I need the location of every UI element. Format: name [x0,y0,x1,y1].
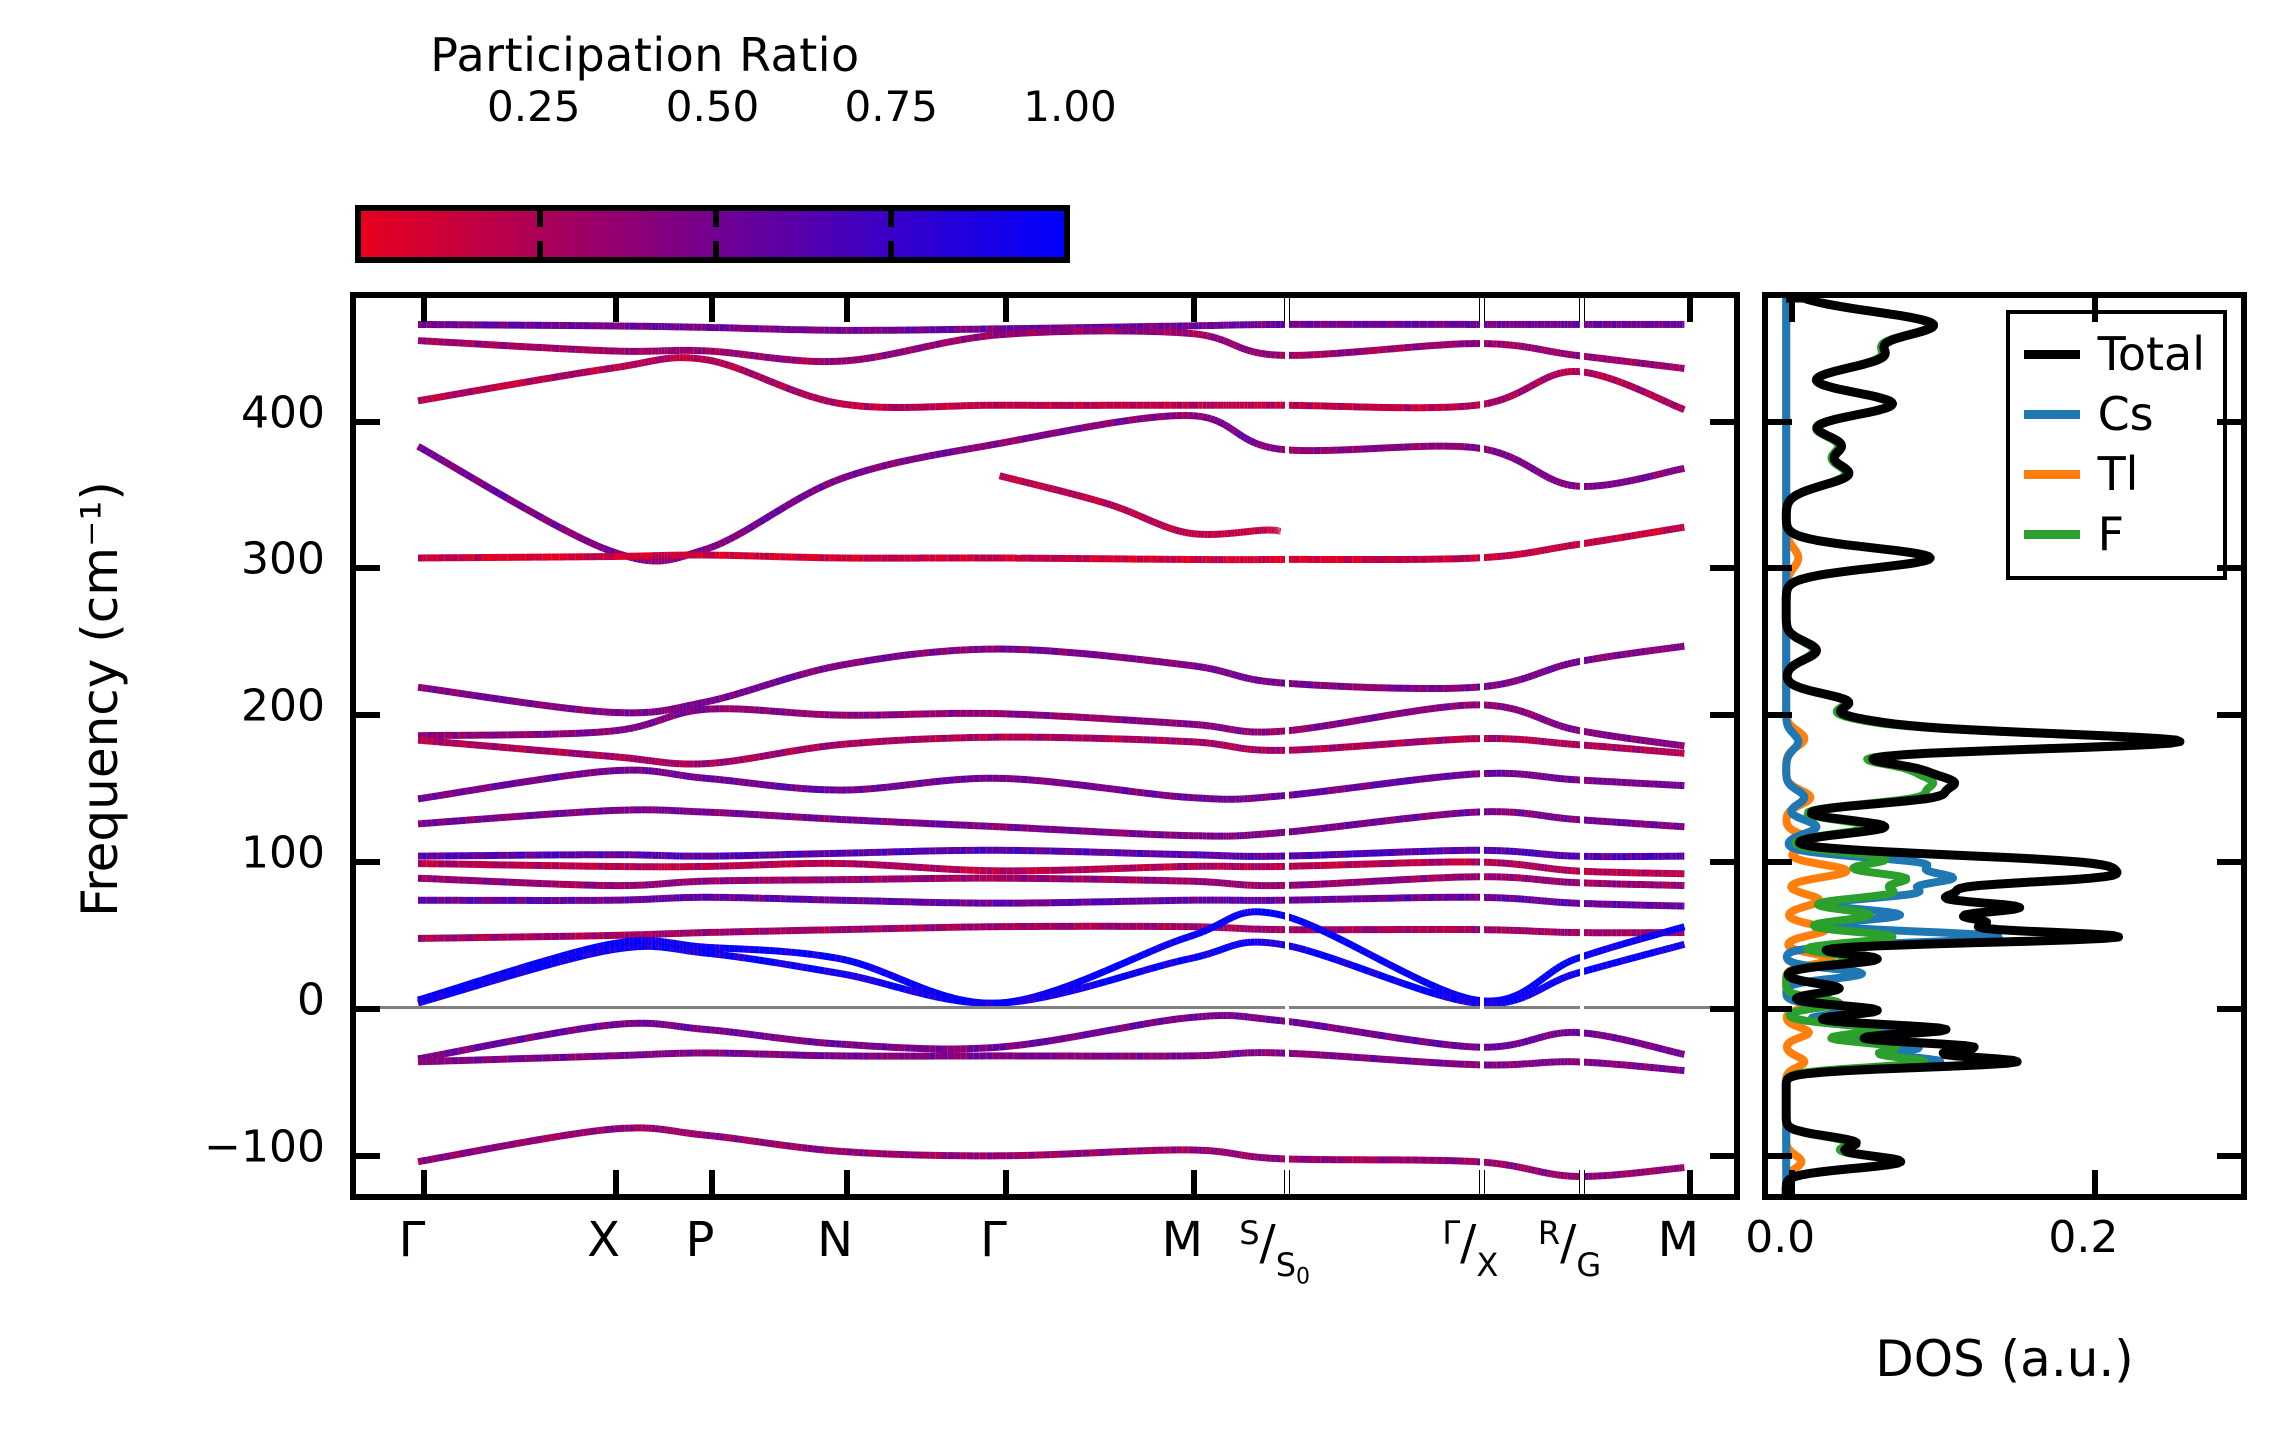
legend-swatch-total [2024,350,2080,359]
kpath-break-0 [1285,298,1289,1194]
colorbar-tick-mark [888,241,894,257]
legend-label-total: Total [2098,331,2205,377]
dos-y-tick-mark [2217,419,2241,425]
x-tick-mark [613,298,619,322]
dos-y-tick-mark [1768,1153,1792,1159]
legend-swatch-f [2024,530,2080,539]
colorbar-tick-label-2: 0.75 [844,82,938,131]
x-tick-label-5: M [1162,1212,1203,1268]
x-tick-mark [844,1170,850,1194]
y-tick-mark [1710,712,1734,718]
x-tick-label-1: X [587,1212,620,1268]
phonon-figure: Participation Ratio 0.250.500.751.00 Fre… [0,0,2271,1455]
y-tick-mark [1710,1006,1734,1012]
x-tick-mark [1191,298,1197,322]
x-tick-mark [613,1170,619,1194]
kpath-break-1 [1480,298,1484,1194]
x-tick-mark [709,298,715,322]
colorbar [355,205,1070,263]
x-tick-label-2: P [686,1212,715,1268]
y-tick-mark [356,1153,380,1159]
zero-frequency-line [356,1006,1734,1009]
dos-y-tick-mark [2217,859,2241,865]
colorbar-tick-label-3: 1.00 [1023,82,1117,131]
dos-plot: TotalCsTlF [1762,292,2247,1200]
x-tick-label-3: N [817,1212,853,1268]
dos-x-tick-mark [2092,298,2098,322]
y-tick-mark [356,859,380,865]
x-tick-mark [1003,298,1009,322]
x-tick-mark [709,1170,715,1194]
x-tick-label-9: M [1658,1212,1699,1268]
y-tick-mark [1710,1153,1734,1159]
x-tick-label-4: Γ [980,1212,1007,1268]
legend-label-cs: Cs [2098,391,2154,437]
x-tick-mark [1003,1170,1009,1194]
legend-item-f: F [2024,504,2205,564]
y-tick-mark [1710,419,1734,425]
band-plot-inner [356,298,1734,1194]
colorbar-tick-label-1: 0.50 [666,82,760,131]
y-tick-mark [356,712,380,718]
x-tick-mark [421,1170,427,1194]
dos-axis-title: DOS (a.u.) [1712,1330,2271,1388]
y-tick-mark [1710,565,1734,571]
colorbar-tick-mark [537,211,543,227]
y-tick-label-4: 0 [297,975,325,1026]
x-tick-labels: ΓXPNΓMS/S0Γ/XR/GM [350,1212,1740,1332]
legend-swatch-tl [2024,470,2080,479]
dos-y-tick-mark [1768,565,1792,571]
dos-legend: TotalCsTlF [2006,310,2227,580]
dos-y-tick-mark [2217,712,2241,718]
dos-y-tick-mark [1768,1006,1792,1012]
x-tick-label-8: R/G [1538,1212,1601,1278]
x-tick-mark [844,298,850,322]
colorbar-tick-mark [537,241,543,257]
x-tick-mark [421,298,427,322]
dos-y-tick-mark [1768,419,1792,425]
dos-x-tick-mark [2092,1170,2098,1194]
y-tick-mark [356,565,380,571]
dos-tick-labels: 0.00.2 [1762,1212,2247,1282]
x-tick-label-7: Γ/X [1442,1212,1498,1278]
dos-y-tick-mark [2217,565,2241,571]
colorbar-tick-label-0: 0.25 [487,82,581,131]
legend-swatch-cs [2024,410,2080,419]
y-tick-label-5: −100 [204,1121,325,1172]
kpath-break-2 [1580,298,1584,1194]
dos-y-tick-mark [2217,1006,2241,1012]
legend-label-f: F [2098,511,2124,557]
x-tick-mark [1191,1170,1197,1194]
x-tick-mark [1687,298,1693,322]
dos-y-tick-mark [2217,1153,2241,1159]
band-curves [356,298,1734,1194]
dos-x-tick-mark [1789,1170,1795,1194]
legend-item-cs: Cs [2024,384,2205,444]
dos-y-tick-mark [1768,712,1792,718]
y-tick-label-2: 200 [241,681,325,732]
dos-x-tick-mark [1789,298,1795,322]
x-tick-mark [1687,1170,1693,1194]
legend-item-total: Total [2024,324,2205,384]
dos-x-tick-label-0: 0.0 [1745,1212,1815,1263]
colorbar-title: Participation Ratio [245,28,1045,82]
x-tick-label-6: S/S0 [1239,1212,1310,1283]
colorbar-tick-mark [888,211,894,227]
band-structure-plot [350,292,1740,1200]
y-tick-mark [1710,859,1734,865]
dos-x-tick-label-1: 0.2 [2048,1212,2118,1263]
dos-y-tick-mark [1768,859,1792,865]
x-tick-label-0: Γ [399,1212,426,1268]
y-tick-label-3: 100 [241,828,325,879]
colorbar-tick-mark [713,211,719,227]
y-tick-mark [356,1006,380,1012]
colorbar-tick-labels: 0.250.500.751.00 [245,82,1045,132]
y-tick-mark [356,419,380,425]
legend-label-tl: Tl [2098,451,2139,497]
colorbar-tick-mark [713,241,719,257]
y-tick-labels: 4003002001000−100 [120,292,325,1200]
y-tick-label-1: 300 [241,534,325,585]
y-tick-label-0: 400 [241,387,325,438]
legend-item-tl: Tl [2024,444,2205,504]
